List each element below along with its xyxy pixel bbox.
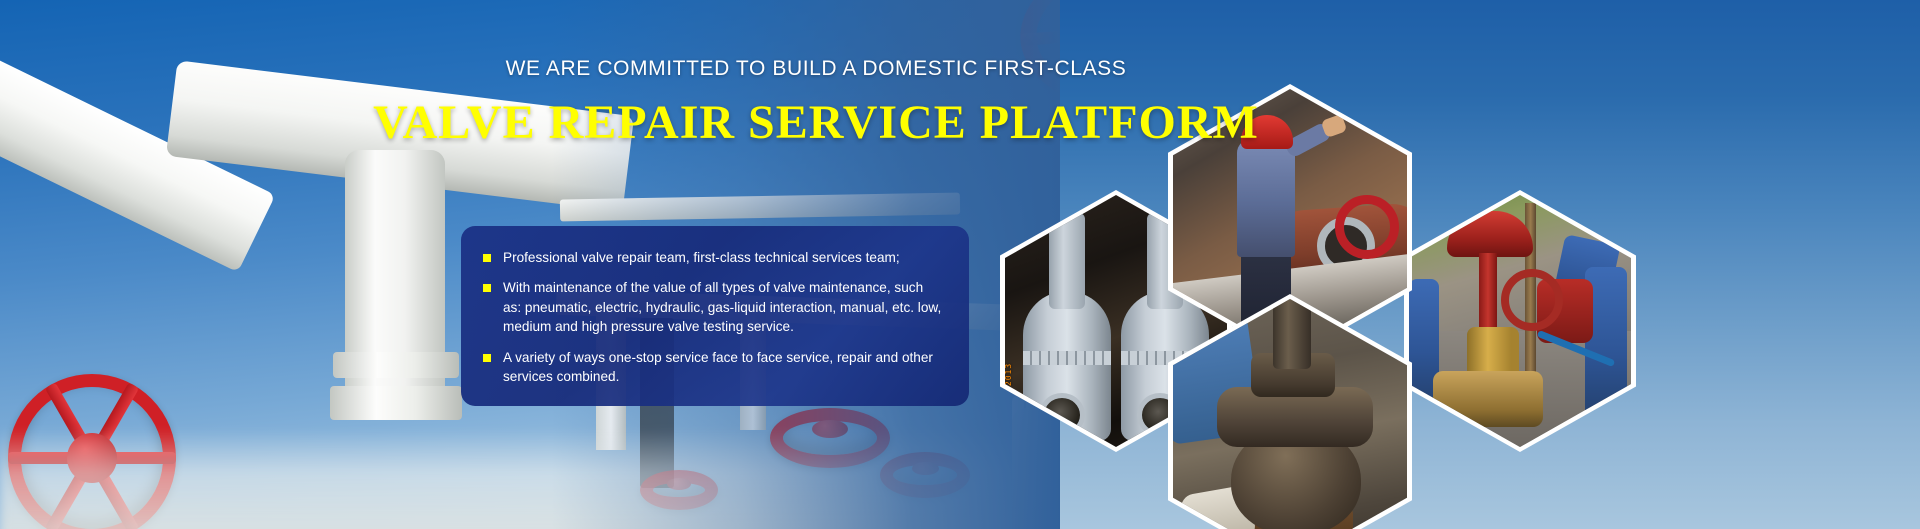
banner-headline: VALVE REPAIR SERVICE PLATFORM: [0, 95, 1920, 150]
feature-item: With maintenance of the value of all typ…: [483, 278, 945, 336]
bullet-square-icon: [483, 354, 491, 362]
banner-tagline: WE ARE COMMITTED TO BUILD A DOMESTIC FIR…: [0, 57, 1920, 81]
feature-item-text: With maintenance of the value of all typ…: [503, 280, 941, 334]
hexagon-red-actuator-valve: [1404, 190, 1636, 452]
bullet-square-icon: [483, 254, 491, 262]
bullet-square-icon: [483, 284, 491, 292]
feature-item: A variety of ways one-stop service face …: [483, 348, 945, 387]
banner-headline-text: VALVE REPAIR SERVICE PLATFORM: [373, 95, 1259, 150]
feature-list: Professional valve repair team, first-cl…: [483, 248, 945, 386]
feature-item-text: A variety of ways one-stop service face …: [503, 350, 933, 384]
feature-box: Professional valve repair team, first-cl…: [461, 226, 969, 406]
feature-item: Professional valve repair team, first-cl…: [483, 248, 945, 267]
banner-tagline-text: WE ARE COMMITTED TO BUILD A DOMESTIC FIR…: [506, 57, 1127, 81]
feature-item-text: Professional valve repair team, first-cl…: [503, 250, 900, 265]
photo-date-stamp: 18 11 2013: [1005, 363, 1013, 421]
valve-repair-banner: WE ARE COMMITTED TO BUILD A DOMESTIC FIR…: [0, 0, 1920, 529]
